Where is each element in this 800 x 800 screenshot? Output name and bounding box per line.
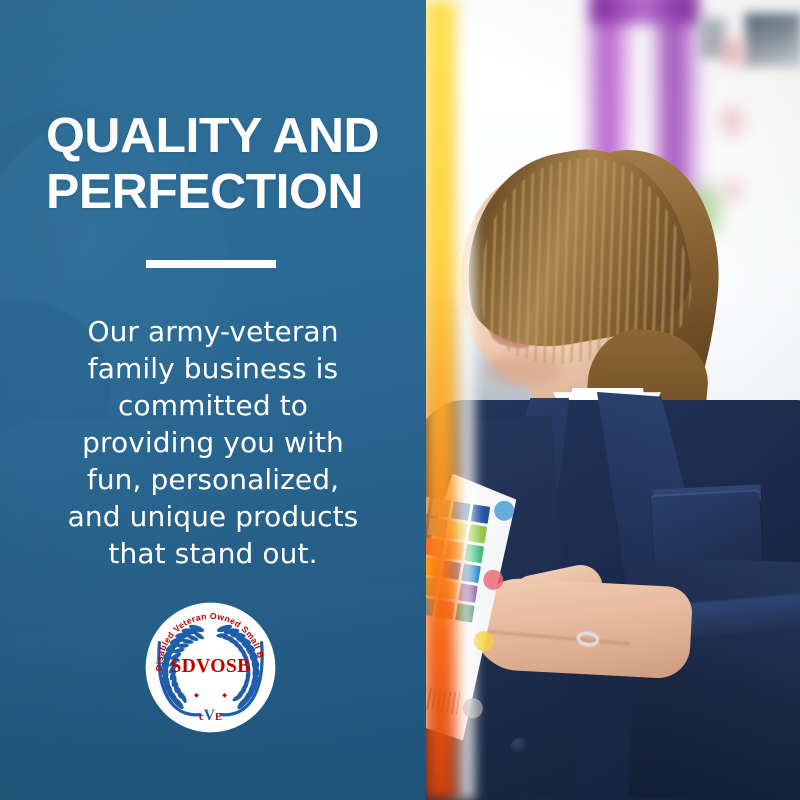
seal-center-text: SDVOSB [170, 655, 250, 677]
body-line-7: that stand out. [40, 535, 386, 572]
page-title: QUALITY AND PERFECTION [46, 108, 393, 220]
swatch-dot [482, 568, 505, 591]
swatch-dot [472, 630, 495, 653]
body-line-2: family business is [40, 350, 386, 387]
body-line-5: fun, personalized, [40, 461, 386, 498]
sdvosb-seal: Service Disabled Veteran Owned Small Bus… [145, 602, 276, 733]
blazer-button-lower [511, 738, 528, 755]
swatch-dot [493, 499, 516, 522]
body-line-1: Our army-veteran [40, 313, 386, 350]
title-divider-rule [146, 260, 276, 268]
headline-line-1: QUALITY AND [46, 108, 393, 164]
warm-accent-strip [424, 0, 456, 800]
panel-content: QUALITY AND PERFECTION Our army-veteran … [0, 0, 426, 800]
body-paragraph: Our army-veteran family business is comm… [40, 313, 386, 572]
promo-banner: QUALITY AND PERFECTION Our army-veteran … [0, 0, 800, 800]
body-line-4: providing you with [40, 424, 386, 461]
body-line-6: and unique products [40, 498, 386, 535]
body-line-3: committed to [40, 387, 386, 424]
headline-line-2: PERFECTION [46, 164, 393, 220]
woman-figure [425, 0, 800, 800]
text-panel: QUALITY AND PERFECTION Our army-veteran … [0, 0, 426, 800]
